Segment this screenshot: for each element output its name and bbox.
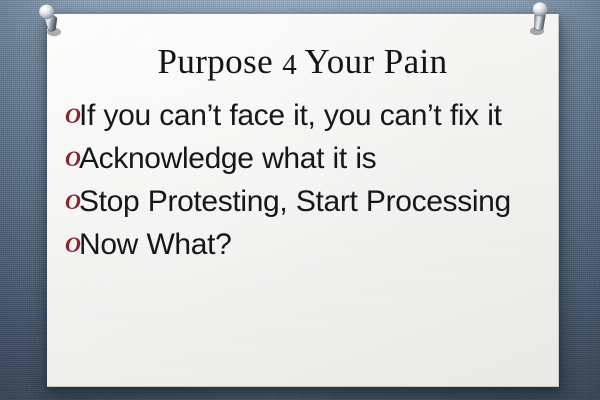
bullet-text-3: Stop Protesting, Start Processing <box>80 182 550 222</box>
paper-sheet: Purpose 4 Your Pain O If you can’t face … <box>47 14 559 387</box>
slide-title-numeral: 4 <box>282 49 297 81</box>
pushpin-icon <box>35 2 69 40</box>
bullet-item-1: O If you can’t face it, you can’t fix it <box>65 96 550 136</box>
slide-title-part-before: Purpose <box>157 42 282 81</box>
bullet-item-4: O Now What? <box>65 225 550 265</box>
bullet-marker-icon: O <box>65 139 80 179</box>
slide-title-part-after: Your Pain <box>297 42 448 81</box>
pushpin-icon <box>522 0 556 38</box>
bullet-item-3: O Stop Protesting, Start Processing <box>65 182 550 222</box>
bullet-text-1: If you can’t face it, you can’t fix it <box>80 96 550 136</box>
slide-content: Purpose 4 Your Pain O If you can’t face … <box>47 14 558 386</box>
bullet-marker-icon: O <box>65 182 80 222</box>
bullet-marker-icon: O <box>65 225 80 265</box>
bullet-text-2: Acknowledge what it is <box>80 139 550 179</box>
bullet-item-2: O Acknowledge what it is <box>65 139 550 179</box>
slide-title: Purpose 4 Your Pain <box>47 44 558 81</box>
slide-canvas: Purpose 4 Your Pain O If you can’t face … <box>0 0 600 400</box>
bullet-list: O If you can’t face it, you can’t fix it… <box>65 96 550 268</box>
bullet-marker-icon: O <box>65 96 80 136</box>
bullet-text-4: Now What? <box>80 225 550 265</box>
